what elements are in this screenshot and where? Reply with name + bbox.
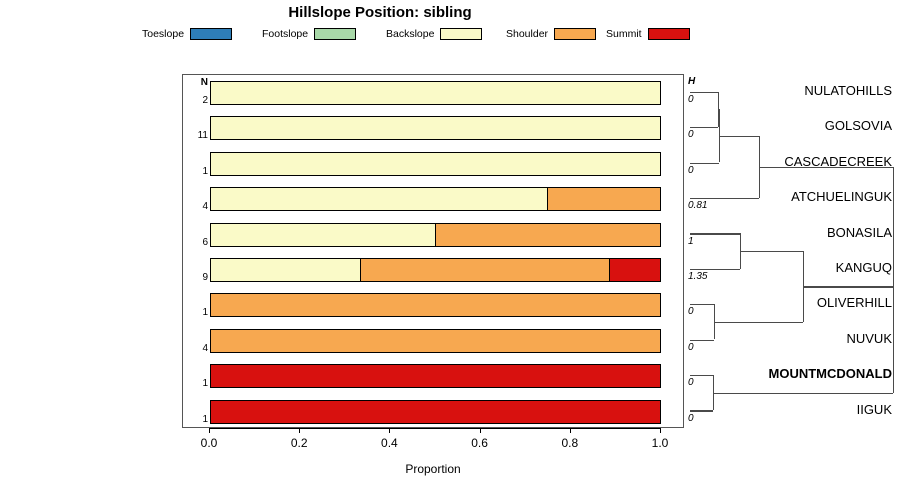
bar-row [210,75,661,110]
x-axis-tick [209,428,210,433]
n-value: 2 [183,95,208,106]
bar-segment-shoulder [211,330,660,352]
bar-segment-backslope [211,82,660,104]
n-value: 1 [183,378,208,389]
dendrogram-branch [690,198,759,199]
legend-swatch [314,28,356,40]
stacked-bar [210,364,661,388]
stacked-bar [210,400,661,424]
bar-row [210,252,661,287]
n-value: 1 [183,414,208,425]
x-axis-title: Proportion [182,462,684,476]
x-axis-tick [389,428,390,433]
legend-label: Summit [606,28,642,40]
dendrogram-branch [740,251,803,252]
stacked-bar [210,116,661,140]
bar-row [210,146,661,181]
stacked-bar [210,258,661,282]
x-axis-tick-label: 0.6 [471,436,488,450]
x-axis-tick [660,428,661,433]
x-axis-tick-label: 0.0 [201,436,218,450]
legend-item-footslope: Footslope [262,26,356,42]
bar-segment-shoulder [435,224,660,246]
n-value: 4 [183,201,208,212]
dendrogram-branch [759,167,893,168]
dendrogram-branch [690,375,713,376]
bar-segment-shoulder [360,259,610,281]
dendrogram-branch [690,233,740,234]
bar-segment-backslope [211,259,360,281]
bar-row [210,181,661,216]
stacked-bar [210,293,661,317]
bar-row [210,358,661,393]
dendrogram-branch [690,127,718,128]
bar-row [210,287,661,322]
n-value: 6 [183,237,208,248]
dendrogram-branch [690,340,714,341]
x-axis-tick [570,428,571,433]
bar-segment-summit [211,401,660,423]
x-axis-line [209,428,660,429]
n-value: 4 [183,343,208,354]
legend-item-shoulder: Shoulder [506,26,596,42]
legend-swatch [648,28,690,40]
n-value: 1 [183,166,208,177]
dendrogram-branch [690,269,740,270]
legend-item-summit: Summit [606,26,690,42]
legend: ToeslopeFootslopeBackslopeShoulderSummit [0,26,760,42]
bar-segment-shoulder [547,188,660,210]
bar-segment-backslope [211,188,547,210]
n-value: 1 [183,307,208,318]
x-axis: 0.00.20.40.60.81.0 [182,428,684,429]
stacked-bar [210,81,661,105]
stacked-bar [210,187,661,211]
bar-row [210,394,661,429]
bar-segment-summit [211,365,660,387]
legend-label: Shoulder [506,28,548,40]
plot-root: Hillslope Position: sibling ToeslopeFoot… [0,0,900,500]
dendrogram-branch [713,393,893,394]
n-value: 11 [183,130,208,141]
legend-label: Footslope [262,28,308,40]
stacked-bar [210,223,661,247]
legend-item-toeslope: Toeslope [142,26,232,42]
dendrogram-branch [714,322,803,323]
dendrogram-connector [893,167,894,393]
legend-label: Toeslope [142,28,184,40]
bar-chart-panel: N 21114691411 [182,74,684,428]
x-axis-tick [299,428,300,433]
bar-row [210,110,661,145]
n-value: 9 [183,272,208,283]
x-axis-tick [480,428,481,433]
legend-swatch [554,28,596,40]
bar-segment-summit [609,259,660,281]
stacked-bar [210,329,661,353]
dendrogram-branch [690,304,714,305]
dendrogram-branch [690,92,718,93]
dendrogram-branch [719,136,759,137]
bar-area [210,75,661,427]
bar-row [210,217,661,252]
page-title: Hillslope Position: sibling [0,4,760,21]
legend-swatch [440,28,482,40]
x-axis-tick-label: 1.0 [652,436,669,450]
dendrogram-branch [690,163,719,164]
stacked-bar [210,152,661,176]
legend-item-backslope: Backslope [386,26,482,42]
dendrogram [690,74,900,428]
bar-row [210,323,661,358]
legend-swatch [190,28,232,40]
legend-label: Backslope [386,28,434,40]
dendrogram-branch [690,410,713,411]
x-axis-tick-label: 0.8 [561,436,578,450]
bar-segment-backslope [211,224,435,246]
x-axis-tick-label: 0.2 [291,436,308,450]
column-header-n: N [183,77,208,88]
dendrogram-branch [803,286,893,287]
bar-segment-shoulder [211,294,660,316]
x-axis-tick-label: 0.4 [381,436,398,450]
bar-segment-backslope [211,117,660,139]
bar-segment-backslope [211,153,660,175]
